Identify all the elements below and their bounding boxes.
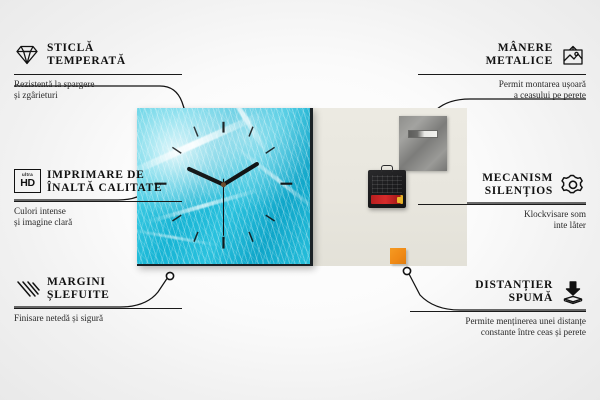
divider xyxy=(410,311,586,312)
feature-subtitle: Permit montarea ușoară a ceasului pe per… xyxy=(418,79,586,102)
feature-subtitle: Culori intense și imagine clară xyxy=(14,206,182,229)
feature-subtitle: Permite menținerea unei distanțe constan… xyxy=(410,316,586,339)
divider xyxy=(14,308,182,309)
mechanism-texture xyxy=(372,175,402,193)
foam-spacer xyxy=(390,248,406,264)
feature-imprimare-inalta-calitate: ultra HD IMPRIMARE DE ÎNALTĂ CALITATE Cu… xyxy=(14,167,182,229)
picture-hanger-icon xyxy=(560,42,586,68)
gear-icon xyxy=(560,172,586,198)
divider xyxy=(418,74,586,75)
feature-title: MÂNERE METALICE xyxy=(486,42,553,68)
feature-title: STICLĂ TEMPERATĂ xyxy=(47,42,126,68)
feature-subtitle: Klockvisare som inte låter xyxy=(418,209,586,232)
metal-hanger-plate xyxy=(399,116,447,171)
feature-margini-slefuite: MARGINI ȘLEFUITE Finisare netedă și sigu… xyxy=(14,274,182,324)
feature-manere-metalice: MÂNERE METALICE Permit montarea ușoară a… xyxy=(418,40,586,102)
infographic-canvas: STICLĂ TEMPERATĂ Rezistentă la spargere … xyxy=(0,0,600,400)
feature-title: MECANISM SILENȚIOS xyxy=(482,172,553,198)
divider xyxy=(418,204,586,205)
feature-sticla-temperata: STICLĂ TEMPERATĂ Rezistentă la spargere … xyxy=(14,40,182,102)
divider xyxy=(14,201,182,202)
polished-edges-icon xyxy=(14,276,40,302)
ultra-hd-badge-icon: ultra HD xyxy=(14,169,40,195)
connector-dot-right-3 xyxy=(403,267,410,274)
diamond-icon xyxy=(14,42,40,68)
divider xyxy=(14,74,182,75)
mechanism-hanger-loop xyxy=(381,165,393,172)
battery xyxy=(371,195,403,204)
feature-title: MARGINI ȘLEFUITE xyxy=(47,276,109,302)
feature-subtitle: Finisare netedă și sigură xyxy=(14,313,182,324)
hanger-slot xyxy=(408,130,438,138)
foam-spacer-icon xyxy=(560,279,586,305)
badge-hd-text: HD xyxy=(20,178,35,189)
clock-mechanism xyxy=(368,170,406,208)
feature-distantier-spuma: DISTANȚIER SPUMĂ Permite menținerea unei… xyxy=(410,277,586,339)
feature-title: IMPRIMARE DE ÎNALTĂ CALITATE xyxy=(47,169,162,195)
feature-mecanism-silentios: MECANISM SILENȚIOS Klockvisare som inte … xyxy=(418,170,586,232)
feature-title: DISTANȚIER SPUMĂ xyxy=(475,279,553,305)
feature-subtitle: Rezistentă la spargere și zgârieturi xyxy=(14,79,182,102)
